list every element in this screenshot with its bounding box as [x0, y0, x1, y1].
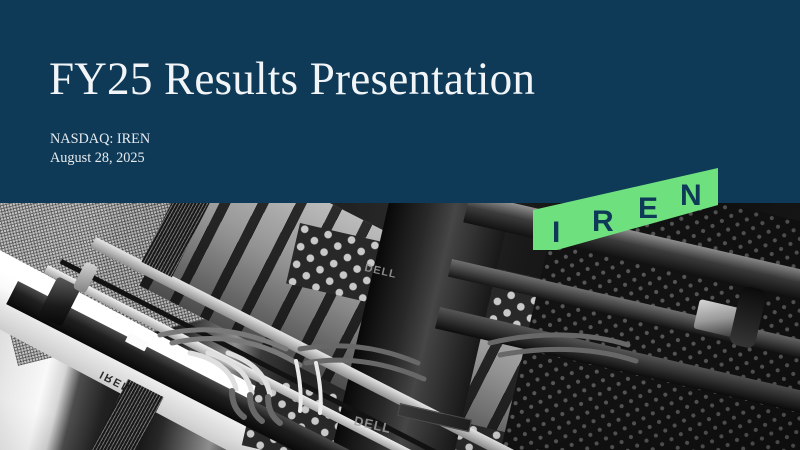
- iren-logo-letter-r: R: [592, 205, 614, 238]
- iren-logo-letter-i: I: [552, 216, 560, 249]
- iren-logo: I R E N: [520, 158, 730, 260]
- iren-logo-svg: I R E N: [520, 158, 730, 260]
- page-title: FY25 Results Presentation: [49, 56, 535, 103]
- ticker-label: NASDAQ: IREN: [50, 130, 150, 149]
- iren-logo-letter-e: E: [638, 192, 658, 225]
- slide-meta: NASDAQ: IREN August 28, 2025: [50, 130, 155, 168]
- title-slide: DELL DELL IREN FY25 Results Presentation…: [0, 0, 800, 450]
- date-label: August 28, 2025: [50, 149, 150, 168]
- iren-logo-letter-n: N: [680, 179, 702, 212]
